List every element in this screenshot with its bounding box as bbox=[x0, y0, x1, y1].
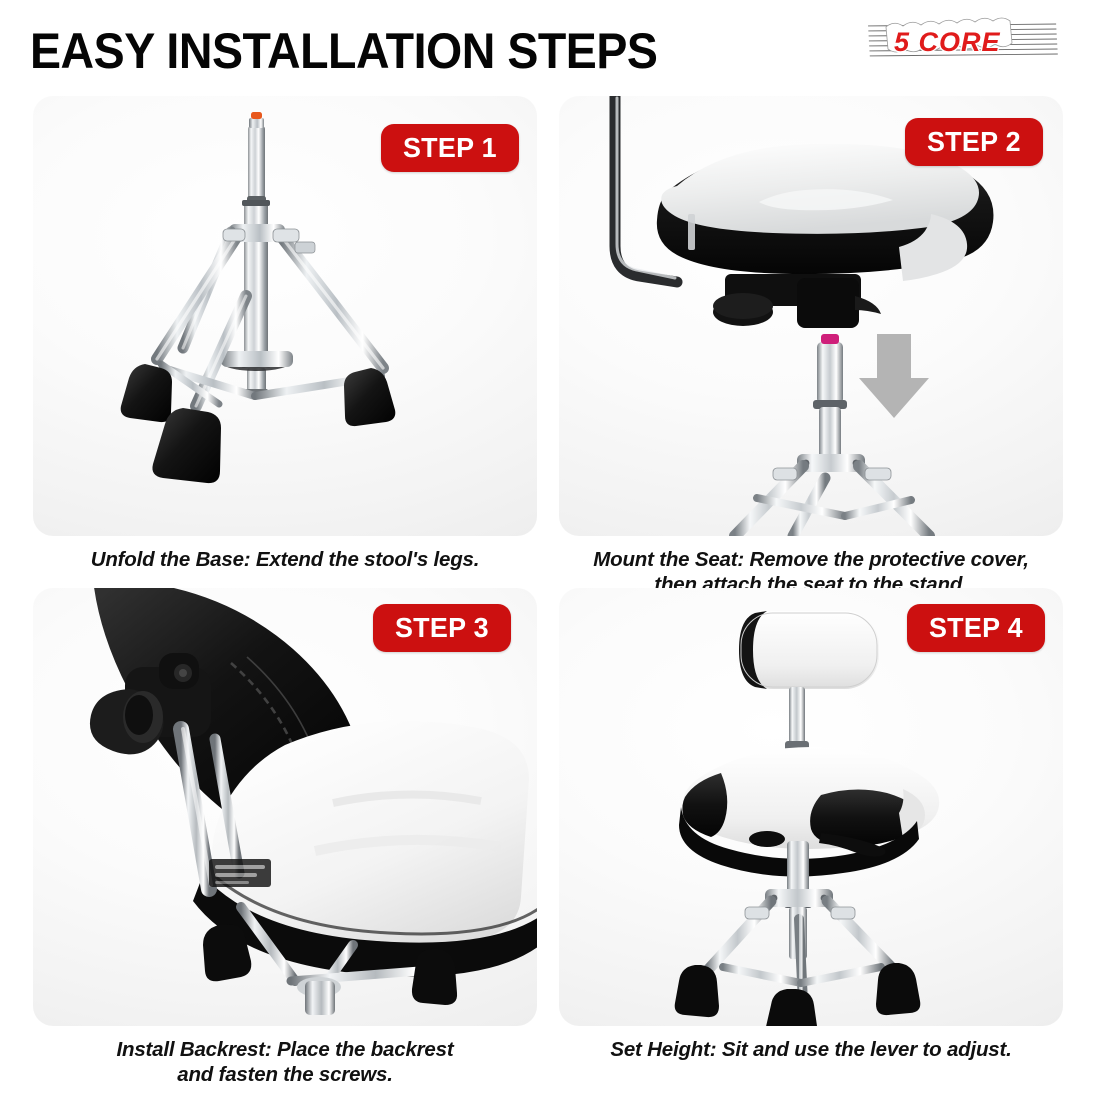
step-1-photo: STEP 1 bbox=[33, 96, 537, 536]
step-card-3: STEP 3 Install Backrest: Place the backr… bbox=[33, 588, 537, 1087]
brand-logo-5-core: 5 CORE bbox=[864, 17, 1060, 64]
step-4-badge: STEP 4 bbox=[907, 604, 1045, 652]
down-arrow-icon bbox=[859, 334, 929, 418]
step-2-photo: STEP 2 bbox=[559, 96, 1063, 536]
page-title: EASY INSTALLATION STEPS bbox=[30, 22, 657, 80]
backrest-install-illustration bbox=[33, 588, 537, 1026]
svg-text:5 CORE: 5 CORE bbox=[894, 27, 1001, 57]
step-card-2: STEP 2 Mount the Seat: Remove the protec… bbox=[559, 96, 1063, 597]
step-3-caption: Install Backrest: Place the backrest and… bbox=[33, 1037, 537, 1087]
step-1-badge: STEP 1 bbox=[381, 124, 519, 172]
step-3-photo: STEP 3 bbox=[33, 588, 537, 1026]
step-card-1: STEP 1 Unfold the Base: Extend the stool… bbox=[33, 96, 537, 572]
steps-grid: STEP 1 Unfold the Base: Extend the stool… bbox=[0, 96, 1096, 1096]
step-3-badge: STEP 3 bbox=[373, 604, 511, 652]
assembled-stool-illustration bbox=[559, 588, 1063, 1026]
step-1-caption: Unfold the Base: Extend the stool's legs… bbox=[33, 547, 537, 572]
step-card-4: STEP 4 Set Height: Sit and use the lever… bbox=[559, 588, 1063, 1062]
step-4-caption: Set Height: Sit and use the lever to adj… bbox=[559, 1037, 1063, 1062]
step-2-badge: STEP 2 bbox=[905, 118, 1043, 166]
step-4-photo: STEP 4 bbox=[559, 588, 1063, 1026]
page-header: EASY INSTALLATION STEPS bbox=[0, 0, 1096, 92]
